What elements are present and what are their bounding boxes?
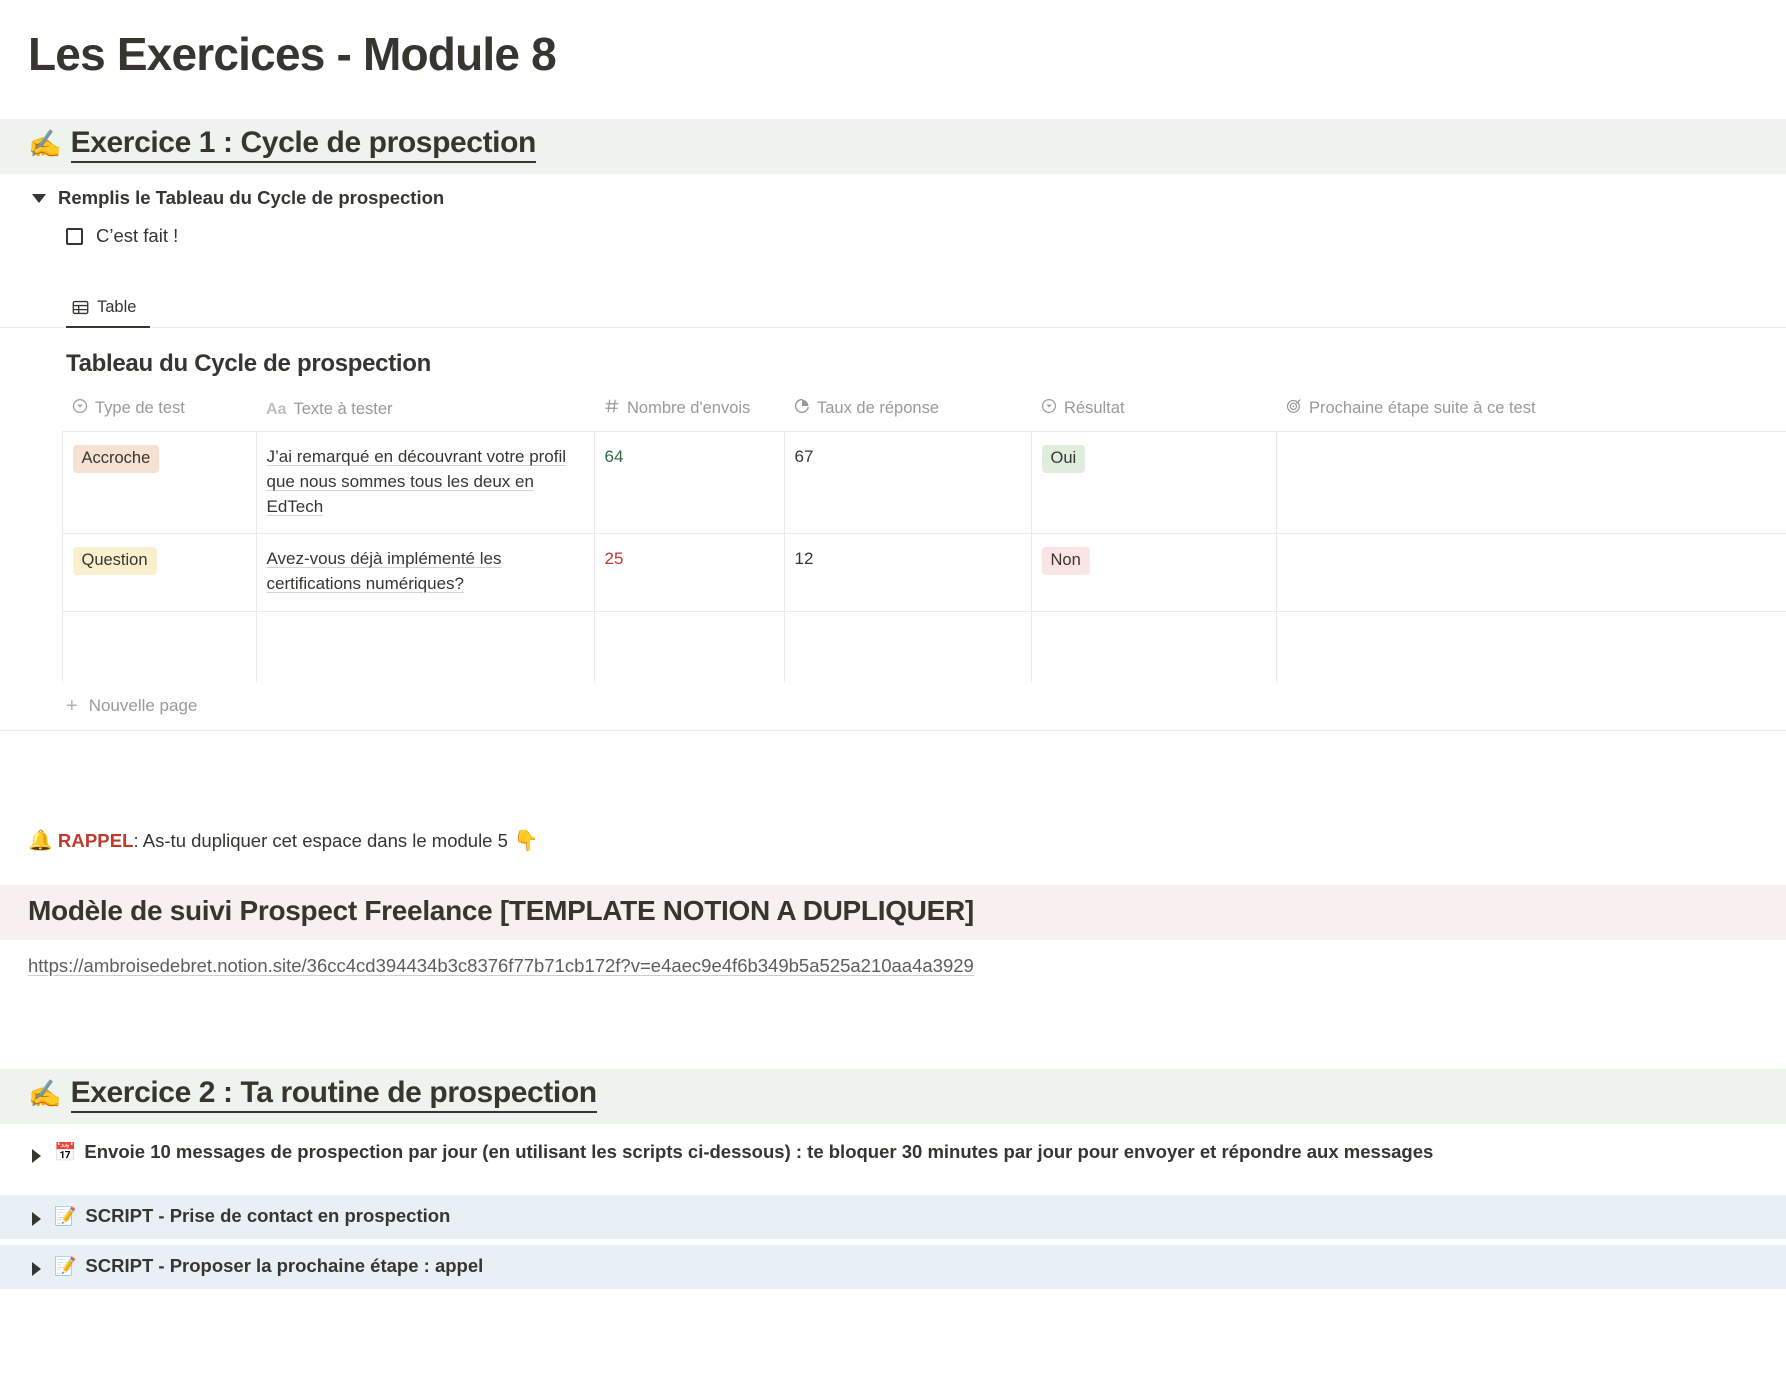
- rappel-callout: 🔔 RAPPEL : As-tu dupliquer cet espace da…: [0, 827, 1786, 855]
- select-circle-chevron-icon: [72, 398, 88, 419]
- cell-nombre-envois[interactable]: 64: [594, 432, 784, 534]
- toggle-script-prise-de-contact[interactable]: 📝 SCRIPT - Prise de contact en prospecti…: [0, 1195, 1786, 1239]
- column-header-type-de-test[interactable]: Type de test: [62, 394, 256, 432]
- cell-number: 25: [605, 549, 624, 568]
- cell-texte-a-tester[interactable]: [256, 611, 594, 683]
- exercise-2-heading: ✍️ Exercice 2 : Ta routine de prospectio…: [0, 1069, 1786, 1125]
- database-view-tabs: Table: [0, 295, 1786, 327]
- row-gutter: [0, 432, 62, 534]
- toggle-routine-task[interactable]: 📅 Envoie 10 messages de prospection par …: [0, 1140, 1786, 1165]
- hash-number-icon: [604, 398, 620, 419]
- column-header-label: Texte à tester: [293, 400, 392, 419]
- memo-icon: 📝: [54, 1256, 76, 1277]
- chevron-right-icon[interactable]: [32, 1262, 41, 1276]
- aa-text-icon: Aa: [266, 401, 286, 419]
- database-table: Type de test Aa Texte à tester: [0, 394, 1786, 682]
- notion-page: Les Exercices - Module 8 ✍️ Exercice 1 :…: [0, 0, 1786, 1396]
- column-header-label: Résultat: [1064, 399, 1125, 418]
- script-label: SCRIPT - Proposer la prochaine étape : a…: [85, 1255, 483, 1277]
- writing-hand-icon: ✍️: [28, 1081, 62, 1108]
- exercise-2-title: Exercice 2 : Ta routine de prospection: [71, 1076, 597, 1114]
- table-header-row: Type de test Aa Texte à tester: [0, 394, 1786, 432]
- writing-hand-icon: ✍️: [28, 131, 62, 158]
- cell-texte-a-tester[interactable]: J’ai remarqué en découvrant votre profil…: [256, 432, 594, 534]
- table-row[interactable]: Question Avez-vous déjà implémenté les c…: [0, 534, 1786, 611]
- percent-pie-icon: [794, 398, 810, 419]
- script-label: SCRIPT - Prise de contact en prospection: [85, 1205, 450, 1227]
- table-row[interactable]: Accroche J’ai remarqué en découvrant vot…: [0, 432, 1786, 534]
- cell-nombre-envois[interactable]: 25: [594, 534, 784, 611]
- new-page-button[interactable]: + Nouvelle page: [0, 683, 1786, 731]
- template-heading: Modèle de suivi Prospect Freelance [TEMP…: [0, 885, 1786, 940]
- cell-number: 64: [605, 447, 624, 466]
- tab-table[interactable]: Table: [66, 295, 144, 327]
- row-gutter: [0, 611, 62, 683]
- database-block: Table Tableau du Cycle de prospection: [0, 295, 1786, 730]
- table-gutter: [0, 394, 62, 432]
- column-header-label: Nombre d'envois: [627, 399, 750, 418]
- cell-number: 67: [795, 447, 814, 466]
- column-header-label: Type de test: [95, 399, 185, 418]
- cell-prochaine-etape[interactable]: [1276, 611, 1786, 683]
- checkbox-unchecked-icon[interactable]: [66, 228, 83, 245]
- tag-non: Non: [1042, 547, 1090, 575]
- cell-number: 12: [795, 549, 814, 568]
- column-header-prochaine-etape[interactable]: Prochaine étape suite à ce test: [1276, 394, 1786, 432]
- memo-icon: 📝: [54, 1206, 76, 1227]
- column-header-label: Prochaine étape suite à ce test: [1309, 399, 1536, 418]
- select-circle-chevron-icon: [1041, 398, 1057, 419]
- checkbox-label: C’est fait !: [96, 225, 178, 247]
- cell-resultat[interactable]: [1031, 611, 1276, 683]
- exercise-1-title: Exercice 1 : Cycle de prospection: [71, 126, 536, 164]
- cell-taux-reponse[interactable]: 12: [784, 534, 1031, 611]
- page-title: Les Exercices - Module 8: [0, 0, 1786, 81]
- template-link[interactable]: https://ambroisedebret.notion.site/36cc4…: [0, 955, 974, 977]
- column-header-label: Taux de réponse: [817, 399, 939, 418]
- cell-nombre-envois[interactable]: [594, 611, 784, 683]
- cell-text: Avez-vous déjà implémenté les certificat…: [267, 549, 502, 593]
- cell-taux-reponse[interactable]: 67: [784, 432, 1031, 534]
- plus-icon: +: [66, 696, 78, 716]
- chevron-down-icon[interactable]: [32, 194, 46, 203]
- column-header-texte-a-tester[interactable]: Aa Texte à tester: [256, 394, 594, 432]
- chevron-right-icon[interactable]: [32, 1149, 41, 1163]
- checklist-item-cest-fait[interactable]: C’est fait !: [0, 225, 1786, 247]
- toggle-remplis-tableau[interactable]: Remplis le Tableau du Cycle de prospecti…: [0, 186, 1786, 211]
- cell-texte-a-tester[interactable]: Avez-vous déjà implémenté les certificat…: [256, 534, 594, 611]
- target-icon: [1286, 398, 1302, 419]
- bell-icon: 🔔: [28, 827, 53, 855]
- calendar-icon: 📅: [54, 1142, 76, 1163]
- pointing-down-icon: 👇: [514, 827, 539, 855]
- template-title: Modèle de suivi Prospect Freelance [TEMP…: [28, 895, 974, 926]
- tag-accroche: Accroche: [73, 445, 160, 473]
- cell-prochaine-etape[interactable]: [1276, 432, 1786, 534]
- cell-taux-reponse[interactable]: [784, 611, 1031, 683]
- row-gutter: [0, 534, 62, 611]
- column-header-taux-de-reponse[interactable]: Taux de réponse: [784, 394, 1031, 432]
- table-row[interactable]: [0, 611, 1786, 683]
- toggle-script-prochaine-etape[interactable]: 📝 SCRIPT - Proposer la prochaine étape :…: [0, 1245, 1786, 1289]
- tab-table-label: Table: [97, 298, 136, 317]
- rappel-text: : As-tu dupliquer cet espace dans le mod…: [134, 828, 508, 854]
- chevron-right-icon[interactable]: [32, 1212, 41, 1226]
- cell-resultat[interactable]: Non: [1031, 534, 1276, 611]
- toggle-label: Remplis le Tableau du Cycle de prospecti…: [58, 186, 444, 211]
- exercise-1-heading: ✍️ Exercice 1 : Cycle de prospection: [0, 119, 1786, 175]
- database-title: Tableau du Cycle de prospection: [0, 328, 1786, 378]
- cell-type-de-test[interactable]: Accroche: [62, 432, 256, 534]
- column-header-resultat[interactable]: Résultat: [1031, 394, 1276, 432]
- tag-oui: Oui: [1042, 445, 1086, 473]
- tag-question: Question: [73, 547, 157, 575]
- cell-prochaine-etape[interactable]: [1276, 534, 1786, 611]
- cell-text: J’ai remarqué en découvrant votre profil…: [267, 447, 567, 515]
- cell-type-de-test[interactable]: [62, 611, 256, 683]
- new-page-label: Nouvelle page: [89, 696, 198, 716]
- column-header-nombre-denvois[interactable]: Nombre d'envois: [594, 394, 784, 432]
- toggle-label: Envoie 10 messages de prospection par jo…: [84, 1140, 1433, 1165]
- cell-resultat[interactable]: Oui: [1031, 432, 1276, 534]
- rappel-word: RAPPEL: [58, 828, 134, 854]
- tabs-underline: [0, 327, 1786, 328]
- table-icon: [72, 299, 89, 316]
- cell-type-de-test[interactable]: Question: [62, 534, 256, 611]
